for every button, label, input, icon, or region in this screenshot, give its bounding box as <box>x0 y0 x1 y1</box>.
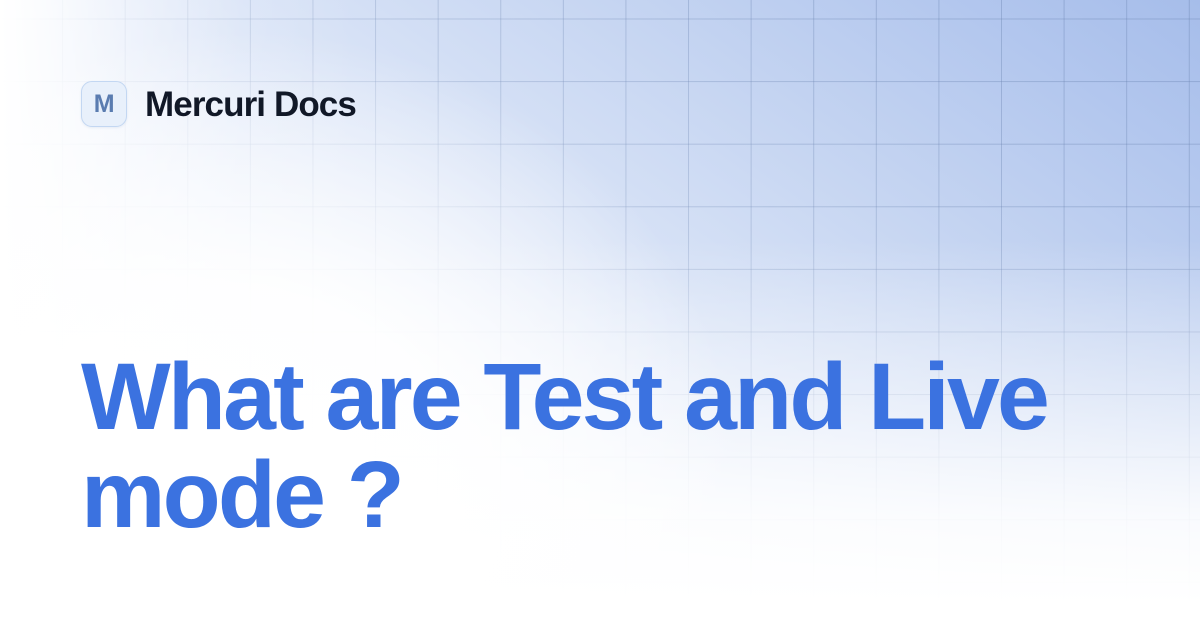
brand-logo-badge: M <box>81 81 127 127</box>
card-content: M Mercuri Docs What are Test and Live mo… <box>0 0 1200 630</box>
page-title: What are Test and Live mode ? <box>81 348 1121 544</box>
brand-name-label: Mercuri Docs <box>145 87 356 122</box>
brand-lockup: M Mercuri Docs <box>81 81 356 127</box>
brand-logo-letter: M <box>94 92 115 117</box>
og-card: M Mercuri Docs What are Test and Live mo… <box>0 0 1200 630</box>
